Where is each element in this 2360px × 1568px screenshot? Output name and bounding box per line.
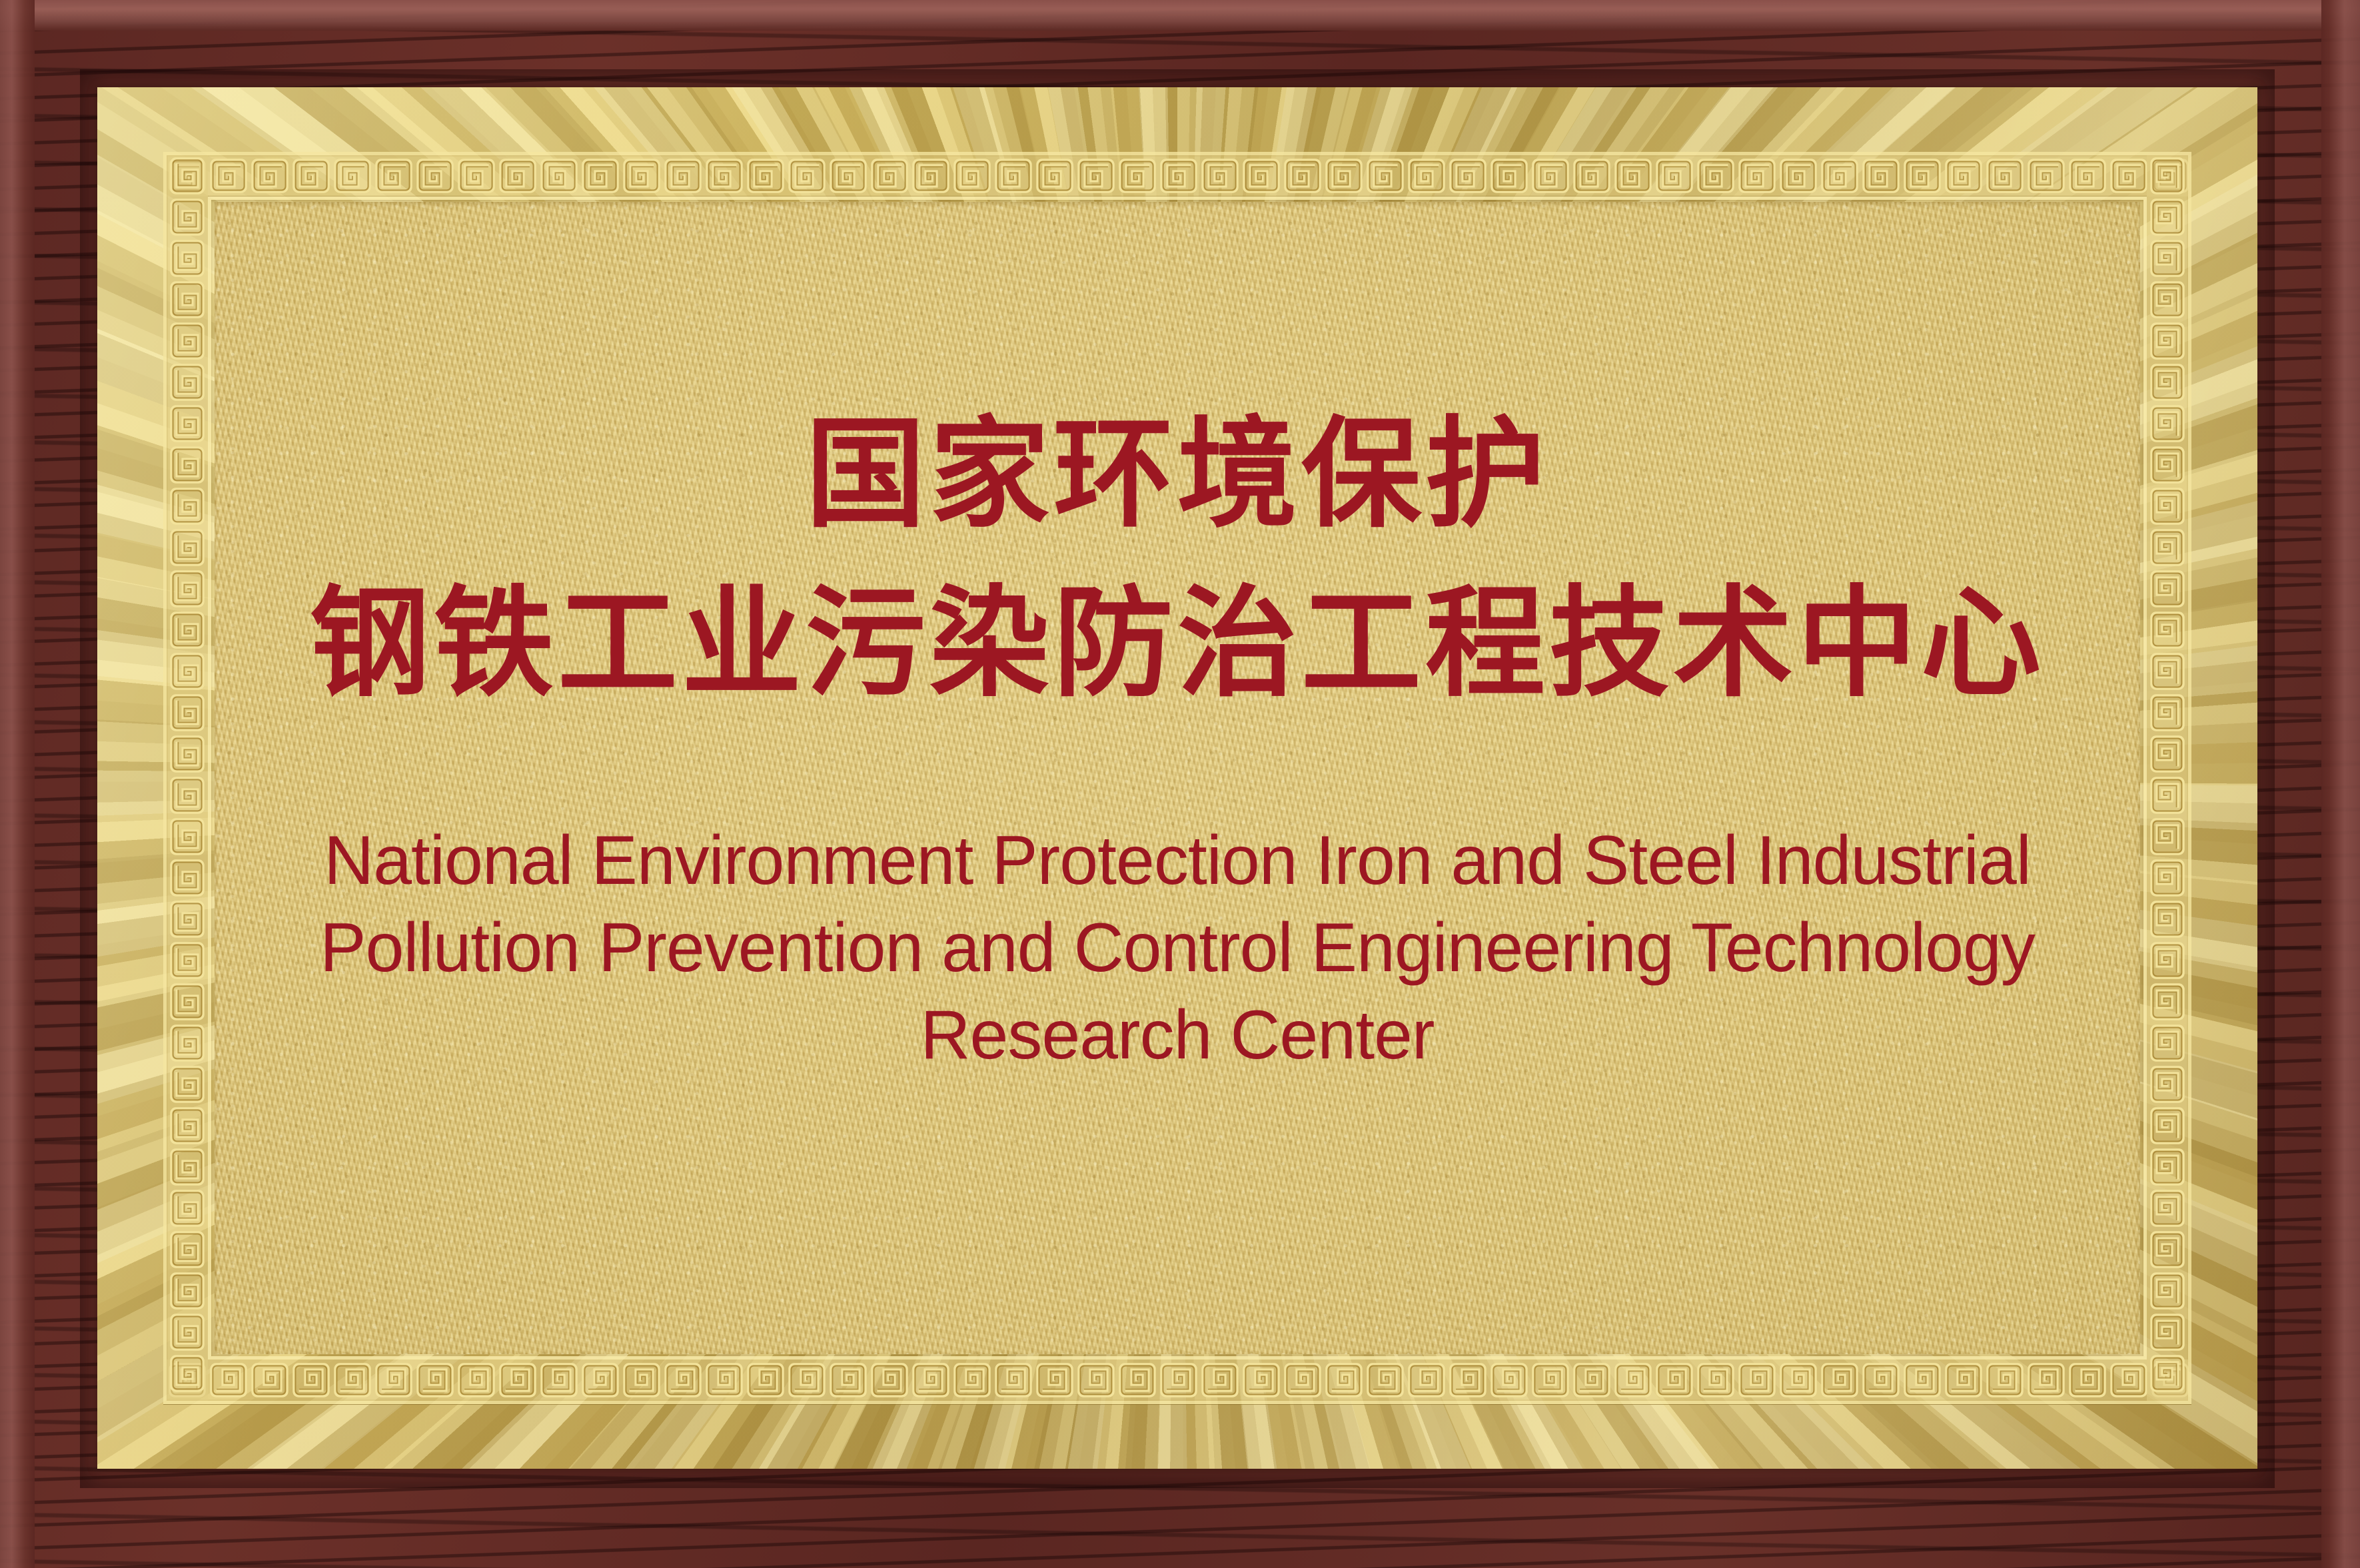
meander-spiral-icon — [2147, 1229, 2188, 1270]
meander-spiral-icon — [993, 1360, 1034, 1401]
meander-spiral-icon — [167, 1146, 208, 1188]
meander-spiral-icon — [167, 155, 208, 196]
meander-spiral-icon — [2147, 1146, 2188, 1188]
gold-plate: 国家环境保护 钢铁工业污染防治工程技术中心 National Environme… — [97, 87, 2257, 1469]
meander-spiral-icon — [2147, 899, 2188, 940]
meander-spiral-icon — [2147, 527, 2188, 568]
meander-spiral-icon — [497, 155, 538, 196]
meander-spiral-icon — [2147, 1353, 2188, 1394]
meander-spiral-icon — [662, 1360, 704, 1401]
meander-spiral-icon — [167, 1270, 208, 1312]
frame-bevel-right — [2321, 0, 2360, 1568]
meander-spiral-icon — [2026, 1360, 2067, 1401]
meander-spiral-icon — [167, 775, 208, 816]
meander-spiral-icon — [414, 155, 456, 196]
meander-band-right — [2147, 155, 2188, 1401]
meander-band-left — [167, 155, 208, 1401]
meander-spiral-icon — [1778, 155, 1819, 196]
meander-spiral-icon — [1241, 155, 1282, 196]
meander-spiral-icon — [208, 1360, 249, 1401]
meander-spiral-icon — [1365, 1360, 1406, 1401]
meander-spiral-icon — [621, 1360, 662, 1401]
meander-spiral-icon — [2147, 362, 2188, 403]
meander-spiral-icon — [456, 1360, 497, 1401]
meander-spiral-icon — [167, 1312, 208, 1353]
meander-spiral-icon — [580, 1360, 621, 1401]
meander-spiral-icon — [786, 1360, 828, 1401]
meander-spiral-icon — [2147, 1270, 2188, 1312]
meander-spiral-icon — [167, 444, 208, 486]
meander-spiral-icon — [1860, 1360, 1902, 1401]
meander-spiral-icon — [538, 1360, 580, 1401]
meander-spiral-icon — [869, 1360, 910, 1401]
meander-spiral-icon — [1447, 155, 1488, 196]
meander-spiral-icon — [993, 155, 1034, 196]
meander-spiral-icon — [1530, 1360, 1571, 1401]
meander-spiral-icon — [167, 899, 208, 940]
meander-spiral-icon — [2147, 816, 2188, 857]
meander-spiral-icon — [167, 1188, 208, 1229]
meander-spiral-icon — [167, 1022, 208, 1064]
meander-spiral-icon — [167, 362, 208, 403]
meander-spiral-icon — [2147, 775, 2188, 816]
meander-spiral-icon — [1819, 155, 1860, 196]
meander-spiral-icon — [745, 1360, 786, 1401]
meander-spiral-icon — [1736, 155, 1778, 196]
meander-spiral-icon — [167, 981, 208, 1022]
meander-spiral-icon — [2147, 320, 2188, 362]
meander-spiral-icon — [910, 155, 951, 196]
meander-spiral-icon — [167, 609, 208, 651]
meander-spiral-icon — [291, 1360, 332, 1401]
meander-spiral-icon — [167, 857, 208, 899]
meander-spiral-icon — [828, 1360, 869, 1401]
meander-spiral-icon — [1447, 1360, 1488, 1401]
meander-spiral-icon — [2147, 940, 2188, 981]
meander-spiral-icon — [2147, 568, 2188, 609]
meander-spiral-icon — [1612, 1360, 1654, 1401]
meander-spiral-icon — [1158, 1360, 1199, 1401]
english-subtitle-line-1: National Environment Protection Iron and… — [298, 817, 2057, 905]
meander-spiral-icon — [2147, 733, 2188, 775]
meander-spiral-icon — [786, 155, 828, 196]
meander-spiral-icon — [704, 155, 745, 196]
meander-spiral-icon — [373, 1360, 414, 1401]
meander-spiral-icon — [2147, 403, 2188, 444]
frame-bevel-bottom — [0, 1545, 2360, 1568]
meander-spiral-icon — [1323, 1360, 1365, 1401]
meander-spiral-icon — [1406, 155, 1447, 196]
meander-spiral-icon — [1943, 1360, 1984, 1401]
meander-spiral-icon — [497, 1360, 538, 1401]
meander-spiral-icon — [2147, 1022, 2188, 1064]
meander-spiral-icon — [332, 155, 373, 196]
meander-spiral-icon — [2147, 155, 2188, 196]
meander-spiral-icon — [1282, 1360, 1323, 1401]
meander-spiral-icon — [1778, 1360, 1819, 1401]
meander-spiral-icon — [167, 733, 208, 775]
meander-spiral-icon — [2067, 1360, 2108, 1401]
meander-spiral-icon — [167, 403, 208, 444]
meander-spiral-icon — [1902, 155, 1943, 196]
meander-spiral-icon — [2108, 1360, 2149, 1401]
meander-spiral-icon — [249, 1360, 291, 1401]
meander-spiral-icon — [745, 155, 786, 196]
meander-spiral-icon — [951, 1360, 993, 1401]
meander-spiral-icon — [1241, 1360, 1282, 1401]
meander-spiral-icon — [167, 940, 208, 981]
meander-spiral-icon — [1612, 155, 1654, 196]
meander-spiral-icon — [1819, 1360, 1860, 1401]
frame-bevel-left — [0, 0, 35, 1568]
meander-spiral-icon — [167, 1353, 208, 1394]
meander-spiral-icon — [2147, 857, 2188, 899]
meander-spiral-icon — [414, 1360, 456, 1401]
meander-spiral-icon — [1654, 1360, 1695, 1401]
meander-spiral-icon — [1323, 155, 1365, 196]
meander-spiral-icon — [2067, 155, 2108, 196]
meander-spiral-icon — [1282, 155, 1323, 196]
meander-spiral-icon — [1075, 1360, 1117, 1401]
meander-band-bottom — [167, 1360, 2188, 1401]
meander-spiral-icon — [1984, 1360, 2026, 1401]
meander-spiral-icon — [2147, 609, 2188, 651]
meander-spiral-icon — [167, 1105, 208, 1146]
chinese-title-line-2: 钢铁工业污染防治工程技术中心 — [310, 584, 2045, 704]
meander-spiral-icon — [951, 155, 993, 196]
meander-spiral-icon — [1117, 1360, 1158, 1401]
meander-spiral-icon — [2147, 444, 2188, 486]
meander-spiral-icon — [2147, 486, 2188, 527]
meander-spiral-icon — [2147, 651, 2188, 692]
meander-spiral-icon — [1034, 1360, 1075, 1401]
meander-spiral-icon — [580, 155, 621, 196]
meander-spiral-icon — [1654, 155, 1695, 196]
meander-spiral-icon — [704, 1360, 745, 1401]
chinese-title-line-1: 国家环境保护 — [806, 415, 1549, 535]
meander-spiral-icon — [167, 238, 208, 279]
meander-spiral-icon — [1736, 1360, 1778, 1401]
english-subtitle-line-2: Pollution Prevention and Control Enginee… — [298, 905, 2057, 992]
meander-spiral-icon — [167, 692, 208, 733]
meander-spiral-icon — [538, 155, 580, 196]
meander-spiral-icon — [1117, 155, 1158, 196]
meander-spiral-icon — [869, 155, 910, 196]
meander-spiral-icon — [167, 279, 208, 320]
meander-spiral-icon — [1860, 155, 1902, 196]
meander-spiral-icon — [2147, 981, 2188, 1022]
meander-spiral-icon — [167, 486, 208, 527]
award-plaque-image: 国家环境保护 钢铁工业污染防治工程技术中心 National Environme… — [0, 0, 2360, 1568]
inner-gold-field: 国家环境保护 钢铁工业污染防治工程技术中心 National Environme… — [215, 202, 2140, 1354]
english-subtitle-block: National Environment Protection Iron and… — [298, 817, 2057, 1079]
meander-spiral-icon — [2147, 1064, 2188, 1105]
meander-spiral-icon — [2147, 692, 2188, 733]
meander-spiral-icon — [1902, 1360, 1943, 1401]
meander-spiral-icon — [332, 1360, 373, 1401]
frame-bevel-top — [0, 0, 2360, 31]
meander-spiral-icon — [167, 816, 208, 857]
plaque-text-block: 国家环境保护 钢铁工业污染防治工程技术中心 National Environme… — [215, 202, 2140, 1354]
meander-spiral-icon — [1365, 155, 1406, 196]
meander-band-top — [167, 155, 2188, 196]
meander-spiral-icon — [167, 527, 208, 568]
meander-spiral-icon — [1199, 155, 1241, 196]
meander-spiral-icon — [2147, 1105, 2188, 1146]
meander-spiral-icon — [2147, 238, 2188, 279]
meander-spiral-icon — [1488, 1360, 1530, 1401]
meander-spiral-icon — [2147, 196, 2188, 238]
meander-spiral-icon — [910, 1360, 951, 1401]
meander-spiral-icon — [1530, 155, 1571, 196]
meander-spiral-icon — [167, 651, 208, 692]
meander-spiral-icon — [2026, 155, 2067, 196]
meander-spiral-icon — [1406, 1360, 1447, 1401]
meander-spiral-icon — [2147, 1188, 2188, 1229]
meander-spiral-icon — [167, 1064, 208, 1105]
meander-spiral-icon — [2108, 155, 2149, 196]
meander-spiral-icon — [662, 155, 704, 196]
meander-spiral-icon — [1075, 155, 1117, 196]
meander-spiral-icon — [249, 155, 291, 196]
meander-spiral-icon — [208, 155, 249, 196]
meander-spiral-icon — [291, 155, 332, 196]
meander-spiral-icon — [456, 155, 497, 196]
meander-spiral-icon — [1695, 1360, 1736, 1401]
english-subtitle-line-3: Research Center — [298, 992, 2057, 1079]
meander-spiral-icon — [1695, 155, 1736, 196]
meander-spiral-icon — [1984, 155, 2026, 196]
meander-spiral-icon — [1943, 155, 1984, 196]
meander-spiral-icon — [167, 320, 208, 362]
meander-spiral-icon — [167, 568, 208, 609]
meander-spiral-icon — [2147, 279, 2188, 320]
meander-spiral-icon — [621, 155, 662, 196]
meander-spiral-icon — [1199, 1360, 1241, 1401]
meander-spiral-icon — [167, 196, 208, 238]
meander-spiral-icon — [373, 155, 414, 196]
meander-spiral-icon — [1034, 155, 1075, 196]
meander-spiral-icon — [1158, 155, 1199, 196]
meander-spiral-icon — [1571, 1360, 1612, 1401]
meander-spiral-icon — [1571, 155, 1612, 196]
meander-spiral-icon — [167, 1229, 208, 1270]
meander-spiral-icon — [1488, 155, 1530, 196]
meander-spiral-icon — [828, 155, 869, 196]
meander-spiral-icon — [2147, 1312, 2188, 1353]
